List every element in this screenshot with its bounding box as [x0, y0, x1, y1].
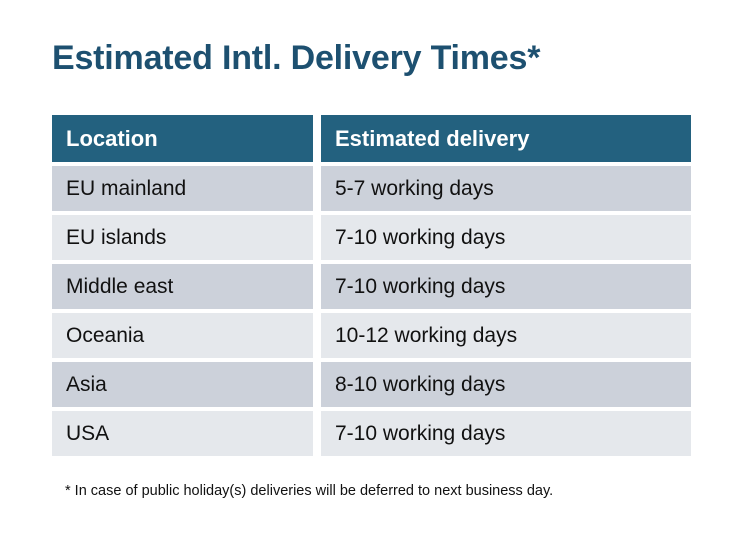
cell-estimated-delivery: 5-7 working days [321, 166, 691, 211]
cell-estimated-delivery: 7-10 working days [321, 215, 691, 260]
table-header-row: Location Estimated delivery [52, 115, 691, 162]
delivery-times-page: Estimated Intl. Delivery Times* Location… [0, 0, 745, 536]
cell-location: Middle east [52, 264, 313, 309]
cell-estimated-delivery: 7-10 working days [321, 411, 691, 456]
cell-estimated-delivery: 7-10 working days [321, 264, 691, 309]
cell-location: EU islands [52, 215, 313, 260]
table-row: EU mainland 5-7 working days [52, 166, 691, 211]
delivery-times-table: Location Estimated delivery EU mainland … [52, 115, 691, 460]
column-header-estimated-delivery: Estimated delivery [321, 115, 691, 162]
table-row: EU islands 7-10 working days [52, 215, 691, 260]
table-row: Oceania 10-12 working days [52, 313, 691, 358]
cell-location: Oceania [52, 313, 313, 358]
cell-estimated-delivery: 10-12 working days [321, 313, 691, 358]
cell-location: USA [52, 411, 313, 456]
page-title: Estimated Intl. Delivery Times* [52, 36, 540, 80]
cell-location: EU mainland [52, 166, 313, 211]
table-row: USA 7-10 working days [52, 411, 691, 456]
footnote-text: * In case of public holiday(s) deliverie… [65, 481, 553, 501]
cell-estimated-delivery: 8-10 working days [321, 362, 691, 407]
cell-location: Asia [52, 362, 313, 407]
table-row: Asia 8-10 working days [52, 362, 691, 407]
column-header-location: Location [52, 115, 313, 162]
table-row: Middle east 7-10 working days [52, 264, 691, 309]
